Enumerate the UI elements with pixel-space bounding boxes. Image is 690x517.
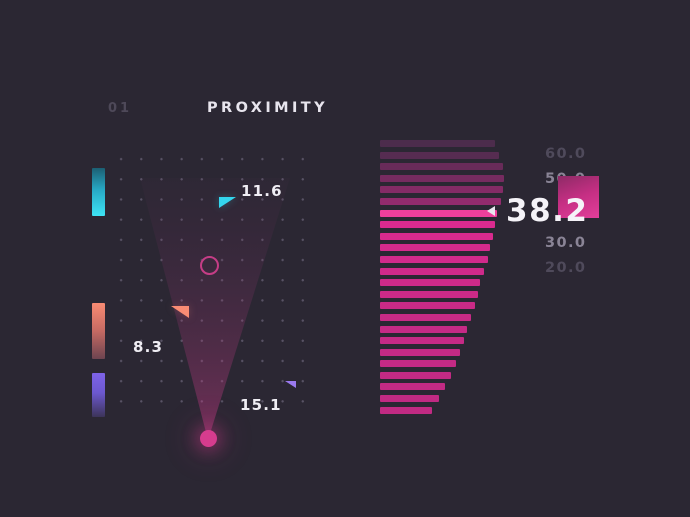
velocity-bar[interactable] xyxy=(380,198,501,205)
velocity-bar[interactable] xyxy=(380,360,456,367)
legend-bar-purple[interactable] xyxy=(92,373,105,417)
velocity-bar[interactable] xyxy=(380,279,480,286)
triangle-purple-icon[interactable] xyxy=(285,381,296,388)
target-ring-icon xyxy=(200,256,219,275)
velocity-bar[interactable] xyxy=(380,163,503,170)
velocity-bar[interactable] xyxy=(380,326,467,333)
velocity-current-value: 38.2 xyxy=(506,193,589,229)
reading-value-purple: 15.1 xyxy=(240,396,282,414)
velocity-bar[interactable] xyxy=(380,233,493,240)
triangle-cyan-icon[interactable] xyxy=(219,197,236,208)
scale-tick-30: 30.0 xyxy=(545,235,586,251)
velocity-bar-stack xyxy=(380,140,504,418)
velocity-bar[interactable] xyxy=(380,407,432,414)
velocity-bar[interactable] xyxy=(380,314,471,321)
triangle-coral-icon[interactable] xyxy=(171,306,189,318)
velocity-bar[interactable] xyxy=(380,349,460,356)
velocity-bar[interactable] xyxy=(380,302,475,309)
scale-tick-60: 60.0 xyxy=(545,146,586,162)
velocity-bar[interactable] xyxy=(380,395,439,402)
value-caret-icon xyxy=(487,206,495,216)
velocity-bar[interactable] xyxy=(380,140,495,147)
velocity-bar[interactable] xyxy=(380,256,488,263)
dashboard-root: 01 PROXIMITY 11.6 8.3 15.1 xyxy=(0,0,690,517)
velocity-bar[interactable] xyxy=(380,244,490,251)
velocity-bar[interactable] xyxy=(380,152,499,159)
velocity-bar[interactable] xyxy=(380,268,484,275)
legend-bar-coral[interactable] xyxy=(92,303,105,359)
reading-value-cyan: 11.6 xyxy=(241,182,283,200)
origin-dot-icon xyxy=(200,430,217,447)
velocity-bar[interactable] xyxy=(380,175,504,182)
velocity-bar[interactable] xyxy=(380,291,478,298)
velocity-bar[interactable] xyxy=(380,186,503,193)
panel-title-proximity: PROXIMITY xyxy=(207,100,328,116)
velocity-bar[interactable] xyxy=(380,372,451,379)
panel-proximity: 01 PROXIMITY 11.6 8.3 15.1 xyxy=(0,0,345,517)
scale-tick-20: 20.0 xyxy=(545,260,586,276)
velocity-bar[interactable] xyxy=(380,337,464,344)
panel-index-01: 01 xyxy=(108,101,132,116)
velocity-bar[interactable] xyxy=(380,221,495,228)
velocity-bar[interactable] xyxy=(380,383,445,390)
legend-bar-cyan[interactable] xyxy=(92,168,105,216)
velocity-bar-active[interactable] xyxy=(380,210,497,217)
reading-value-coral: 8.3 xyxy=(133,338,163,356)
